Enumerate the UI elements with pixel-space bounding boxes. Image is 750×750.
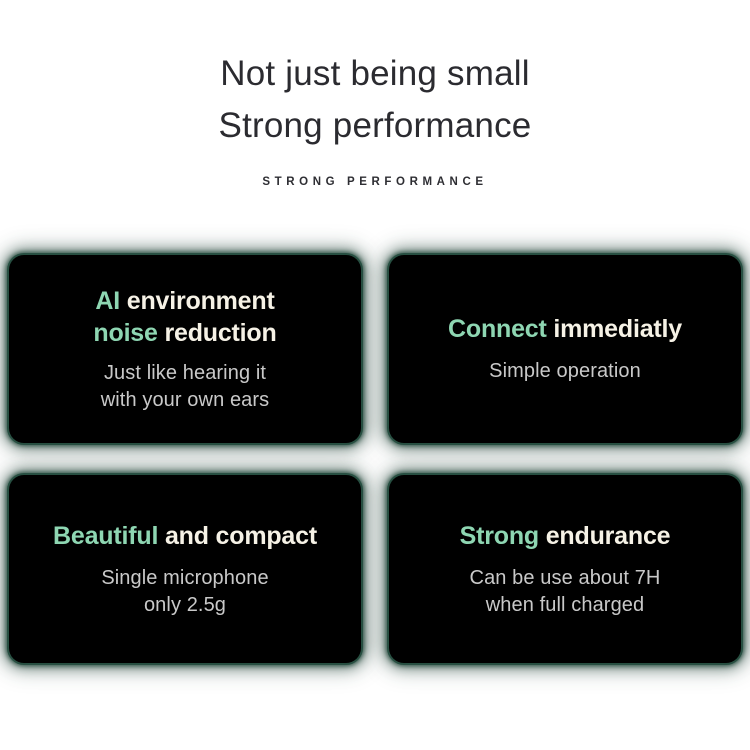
headline-line-2: Strong performance <box>0 100 750 152</box>
card-title-plain: and compact <box>158 522 317 550</box>
card-title-highlight: Connect <box>448 315 547 343</box>
feature-card-beautiful-compact[interactable]: Beautiful and compact Single microphone … <box>9 475 361 663</box>
feature-card-strong-endurance[interactable]: Strong endurance Can be use about 7H whe… <box>389 475 741 663</box>
card-title-highlight-2: noise <box>93 319 157 347</box>
card-title-highlight: Beautiful <box>53 522 158 550</box>
feature-card-ai-noise-reduction[interactable]: AI environment noise reduction Just like… <box>9 255 361 443</box>
card-title-line-2: noise reduction <box>23 317 347 349</box>
card-title-plain: endurance <box>539 522 670 550</box>
page-header: Not just being small Strong performance … <box>0 0 750 188</box>
card-subtitle: Can be use about 7H when full charged <box>403 565 727 619</box>
card-title-highlight: AI <box>95 287 120 315</box>
card-title: Connect immediatly <box>403 313 727 345</box>
card-content: Beautiful and compact Single microphone … <box>23 520 347 619</box>
feature-card-connect-immediately[interactable]: Connect immediatly Simple operation <box>389 255 741 443</box>
card-subtitle-line-2: only 2.5g <box>23 592 347 619</box>
card-subtitle-line-2: when full charged <box>403 592 727 619</box>
card-title-line-1: AI environment <box>23 285 347 317</box>
promo-page: Not just being small Strong performance … <box>0 0 750 750</box>
card-title-highlight: Strong <box>460 522 539 550</box>
card-subtitle: Simple operation <box>403 358 727 385</box>
card-subtitle-line-2: with your own ears <box>23 387 347 414</box>
feature-card-grid: AI environment noise reduction Just like… <box>9 255 741 663</box>
card-title-plain: immediatly <box>547 315 682 343</box>
card-title: AI environment noise reduction <box>23 285 347 349</box>
card-title: Beautiful and compact <box>23 520 347 552</box>
card-title: Strong endurance <box>403 520 727 552</box>
card-content: AI environment noise reduction Just like… <box>23 285 347 414</box>
headline-line-1: Not just being small <box>0 48 750 100</box>
card-subtitle: Just like hearing it with your own ears <box>23 360 347 414</box>
card-title-plain: environment <box>120 287 275 315</box>
card-subtitle-line-1: Just like hearing it <box>23 360 347 387</box>
card-content: Connect immediatly Simple operation <box>403 313 727 385</box>
card-content: Strong endurance Can be use about 7H whe… <box>403 520 727 619</box>
page-title: Not just being small Strong performance <box>0 48 750 152</box>
card-subtitle: Single microphone only 2.5g <box>23 565 347 619</box>
card-subtitle-line-1: Simple operation <box>403 358 727 385</box>
card-subtitle-line-1: Can be use about 7H <box>403 565 727 592</box>
page-eyebrow: STRONG PERFORMANCE <box>0 176 750 188</box>
card-title-plain-2: reduction <box>158 319 277 347</box>
card-subtitle-line-1: Single microphone <box>23 565 347 592</box>
